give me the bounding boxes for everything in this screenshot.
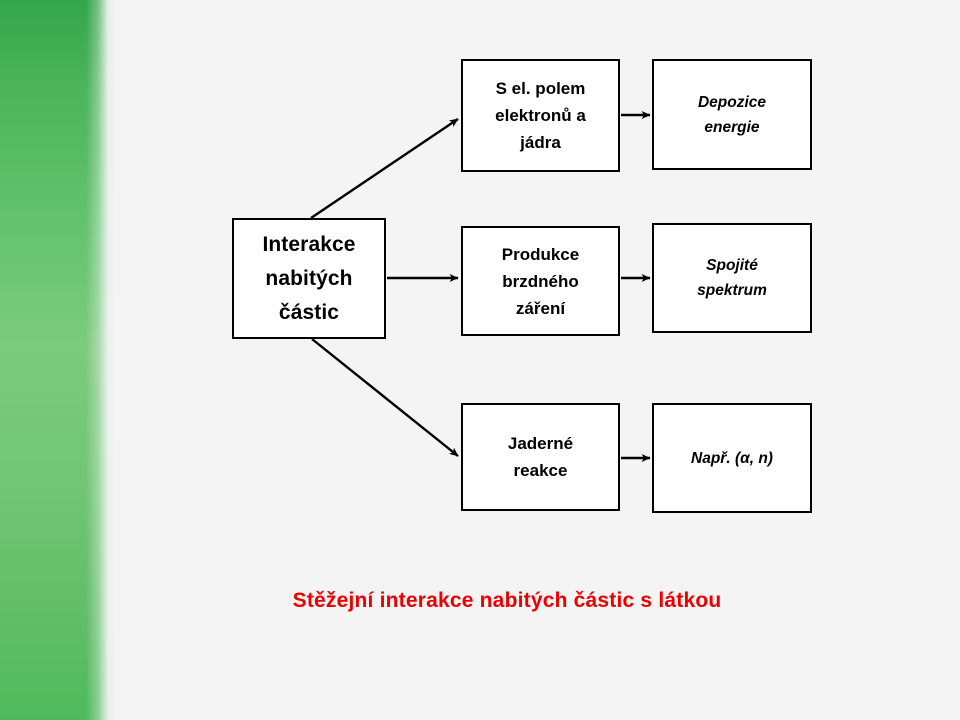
slide-canvas: Interakce nabitých částic S el. polem el…: [0, 0, 960, 720]
diagram-node-label: S el. polem elektronů a jádra: [463, 75, 618, 156]
diagram-node-produkce-brzdneho-zareni[interactable]: Produkce brzdného záření: [461, 226, 620, 336]
diagram-node-napr-alfa-n[interactable]: Např. (α, n): [652, 403, 812, 513]
slide-caption: Stěžejní interakce nabitých částic s lát…: [0, 589, 960, 613]
diagram-node-interakce-nabitych-castic[interactable]: Interakce nabitých částic: [232, 218, 386, 339]
diagram-node-label: Produkce brzdného záření: [463, 241, 618, 322]
diagram-node-label: Interakce nabitých částic: [234, 228, 384, 330]
diagram-node-label: Spojité spektrum: [654, 253, 810, 303]
diagram-node-label: Např. (α, n): [654, 446, 810, 471]
diagram-node-spojite-spektrum[interactable]: Spojité spektrum: [652, 223, 812, 333]
diagram-node-label: Jaderné reakce: [463, 430, 618, 484]
diagram-node-s-el-polem[interactable]: S el. polem elektronů a jádra: [461, 59, 620, 172]
diagram-node-label: Depozice energie: [654, 90, 810, 140]
diagram-node-depozice-energie[interactable]: Depozice energie: [652, 59, 812, 170]
edge-root-to-el-pole: [311, 119, 458, 218]
edge-root-to-jaderne-reakce: [312, 339, 458, 456]
diagram-node-jaderne-reakce[interactable]: Jaderné reakce: [461, 403, 620, 511]
